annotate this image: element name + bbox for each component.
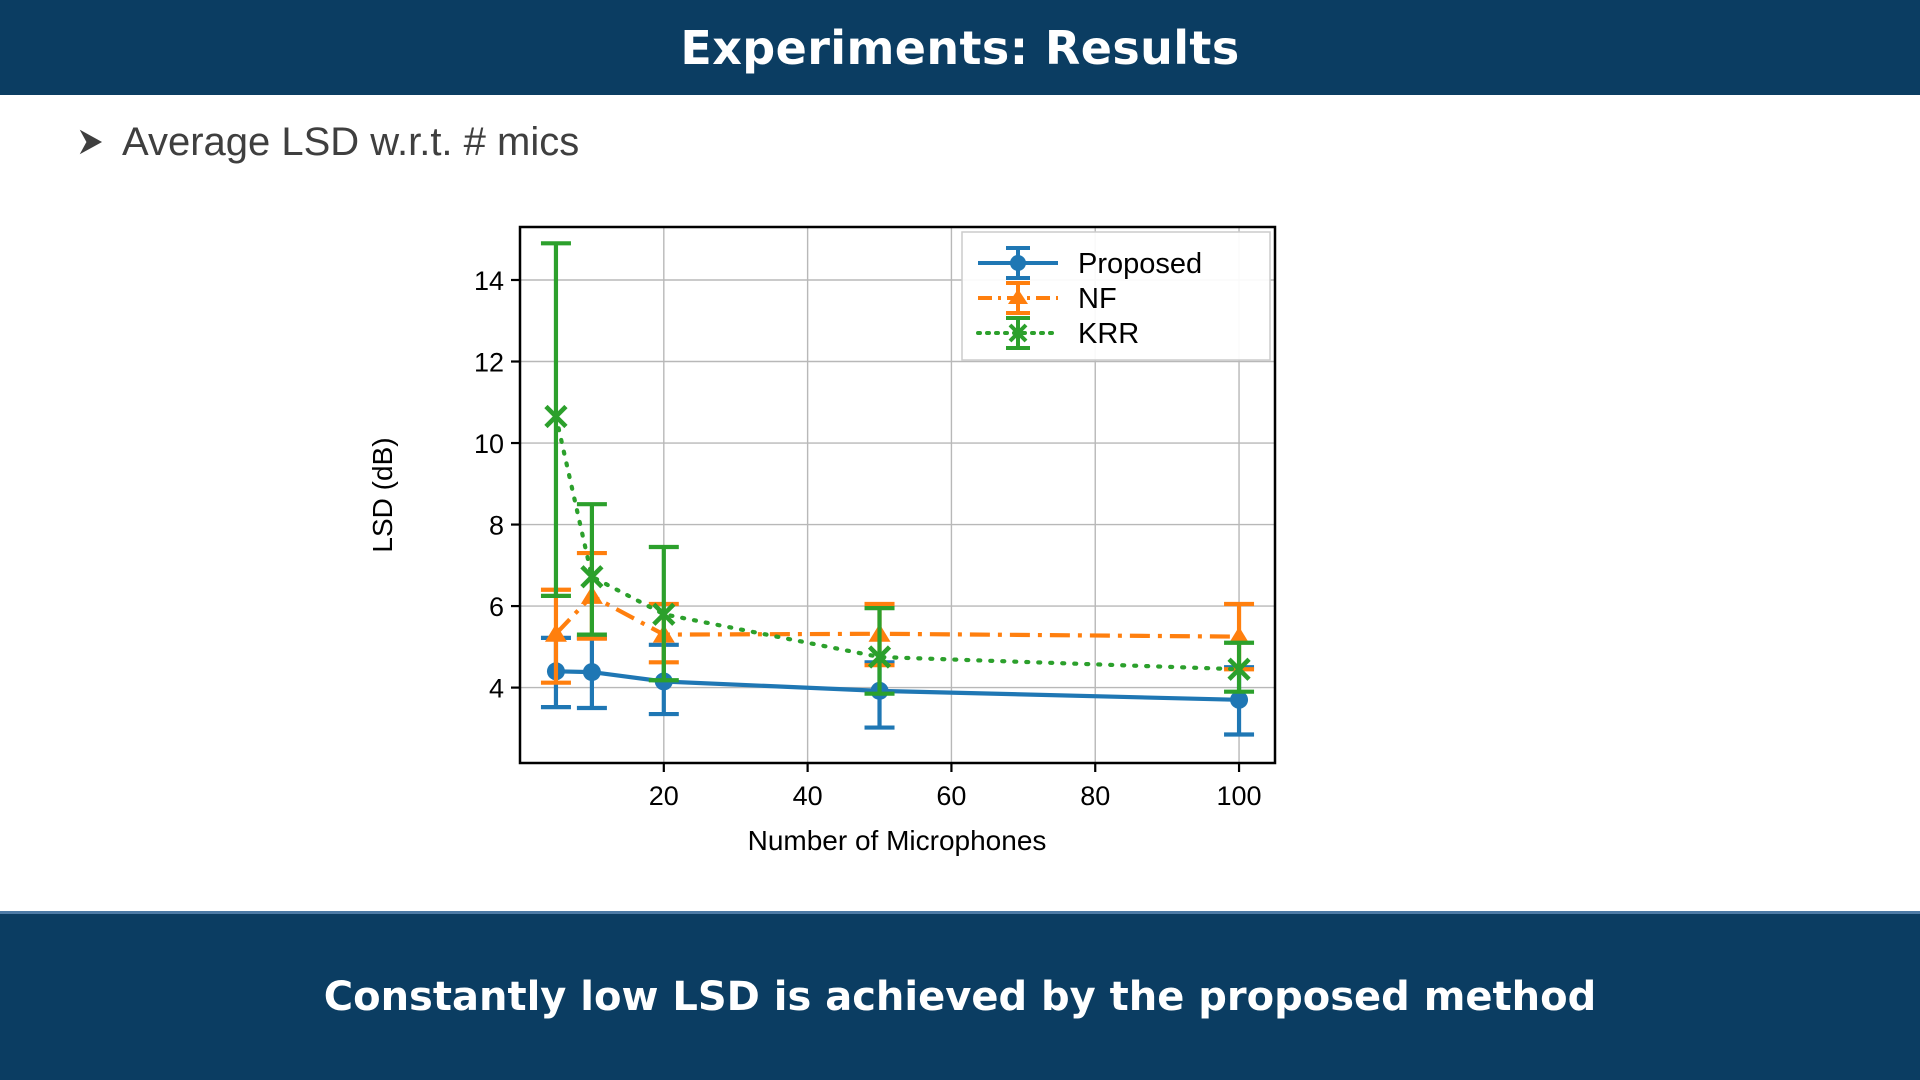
y-tick-label: 8 bbox=[489, 511, 504, 541]
arrow-bullet-icon bbox=[78, 125, 104, 159]
page-title: Experiments: Results bbox=[680, 25, 1239, 71]
x-tick-label: 80 bbox=[1080, 781, 1110, 811]
y-tick-label: 6 bbox=[489, 592, 504, 622]
legend-label-nf: NF bbox=[1078, 283, 1117, 315]
takeaway-banner: Constantly low LSD is achieved by the pr… bbox=[0, 911, 1920, 1080]
lsd-vs-mics-chart: 46810121420406080100 Number of Microphon… bbox=[330, 170, 1610, 870]
y-tick-label: 14 bbox=[474, 266, 504, 296]
y-tick-label: 4 bbox=[489, 674, 504, 704]
slide-title-banner: Experiments: Results bbox=[0, 0, 1920, 95]
y-tick-label: 10 bbox=[474, 429, 504, 459]
y-axis-title: LSD (dB) bbox=[367, 437, 398, 552]
chart-legend: Proposed NF KRR bbox=[962, 232, 1270, 360]
legend-label-proposed: Proposed bbox=[1078, 248, 1202, 280]
bullet-label: Average LSD w.r.t. # mics bbox=[122, 122, 579, 162]
bullet-row: Average LSD w.r.t. # mics bbox=[78, 122, 579, 162]
x-tick-label: 60 bbox=[936, 781, 966, 811]
x-tick-label: 20 bbox=[649, 781, 679, 811]
x-axis-title: Number of Microphones bbox=[748, 825, 1047, 856]
x-tick-label: 40 bbox=[793, 781, 823, 811]
y-tick-label: 12 bbox=[474, 348, 504, 378]
chart-canvas: 46810121420406080100 Number of Microphon… bbox=[330, 170, 1610, 870]
x-tick-label: 100 bbox=[1217, 781, 1262, 811]
legend-label-krr: KRR bbox=[1078, 318, 1139, 350]
takeaway-text: Constantly low LSD is achieved by the pr… bbox=[324, 977, 1597, 1017]
